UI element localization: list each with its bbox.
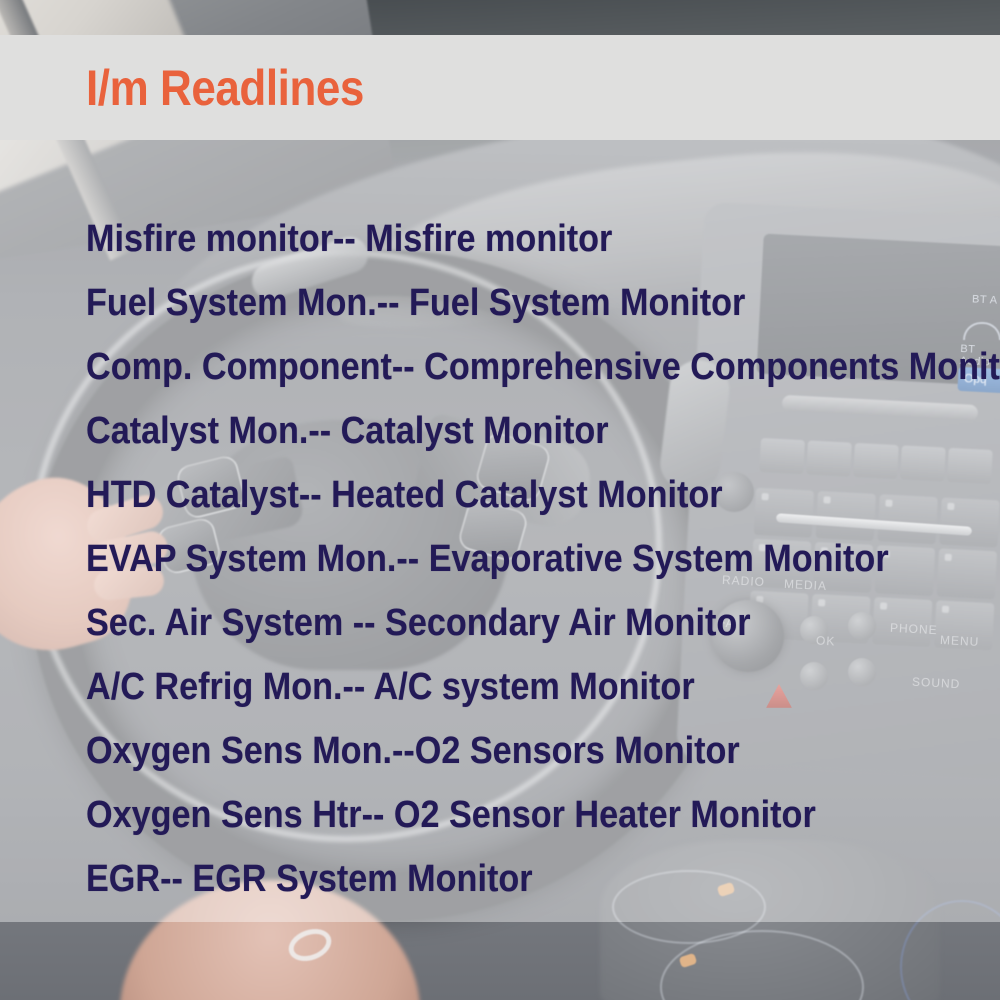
- page-title: I/m Readlines: [86, 63, 364, 113]
- monitor-list: Misfire monitor-- Misfire monitor Fuel S…: [86, 207, 986, 911]
- list-item: Oxygen Sens Mon.--O2 Sensors Monitor: [86, 719, 896, 783]
- header-band: I/m Readlines: [0, 35, 1000, 140]
- list-item: EVAP System Mon.-- Evaporative System Mo…: [86, 527, 896, 591]
- list-item: HTD Catalyst-- Heated Catalyst Monitor: [86, 463, 896, 527]
- list-item: Fuel System Mon.-- Fuel System Monitor: [86, 271, 896, 335]
- list-item: EGR-- EGR System Monitor: [86, 847, 896, 911]
- list-item: Catalyst Mon.-- Catalyst Monitor: [86, 399, 896, 463]
- list-item: Sec. Air System -- Secondary Air Monitor: [86, 591, 896, 655]
- poster-canvas: BT A BT Audio Opq RADIO MEDIA FA OK PHON…: [0, 0, 1000, 1000]
- list-item: Comp. Component-- Comprehensive Componen…: [86, 335, 896, 399]
- list-item: Misfire monitor-- Misfire monitor: [86, 207, 896, 271]
- list-item: Oxygen Sens Htr-- O2 Sensor Heater Monit…: [86, 783, 896, 847]
- list-item: A/C Refrig Mon.-- A/C system Monitor: [86, 655, 896, 719]
